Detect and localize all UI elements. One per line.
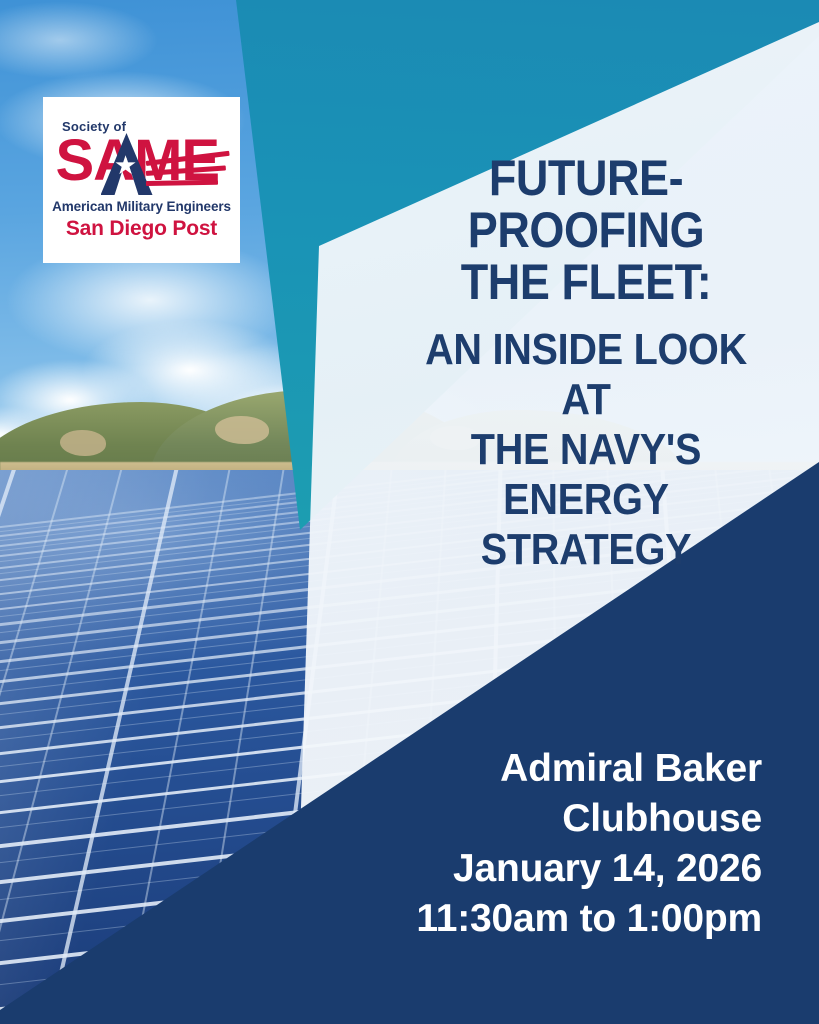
subheadline-line-1: AN INSIDE LOOK AT (397, 325, 775, 425)
star-icon: ★ (114, 153, 138, 177)
subheadline-line-3: STRATEGY (397, 525, 775, 575)
logo-post-text: San Diego Post (66, 217, 217, 241)
subheadline-line-2: THE NAVY'S ENERGY (397, 425, 775, 525)
rock-outcrop (215, 416, 269, 444)
headline-line-2: THE FLEET: (397, 256, 775, 308)
logo-same-acronym: SAME ★ (56, 131, 228, 197)
same-san-diego-post-logo: Society of SAME ★ American Military Engi… (43, 97, 240, 263)
venue-name-line-1: Admiral Baker (320, 744, 762, 794)
venue-name-line-2: Clubhouse (320, 794, 762, 844)
event-subheadline: AN INSIDE LOOK AT THE NAVY'S ENERGY STRA… (376, 325, 796, 575)
event-flyer: Society of SAME ★ American Military Engi… (0, 0, 819, 1024)
event-details: Admiral Baker Clubhouse January 14, 2026… (320, 744, 790, 944)
event-date: January 14, 2026 (320, 844, 762, 894)
event-headline: FUTURE-PROOFING THE FLEET: (376, 152, 796, 308)
event-time: 11:30am to 1:00pm (320, 894, 762, 944)
logo-organization-text: American Military Engineers (52, 199, 231, 214)
headline-line-1: FUTURE-PROOFING (397, 152, 775, 256)
logo-flag-stripes (146, 161, 232, 195)
rock-outcrop (60, 430, 106, 456)
